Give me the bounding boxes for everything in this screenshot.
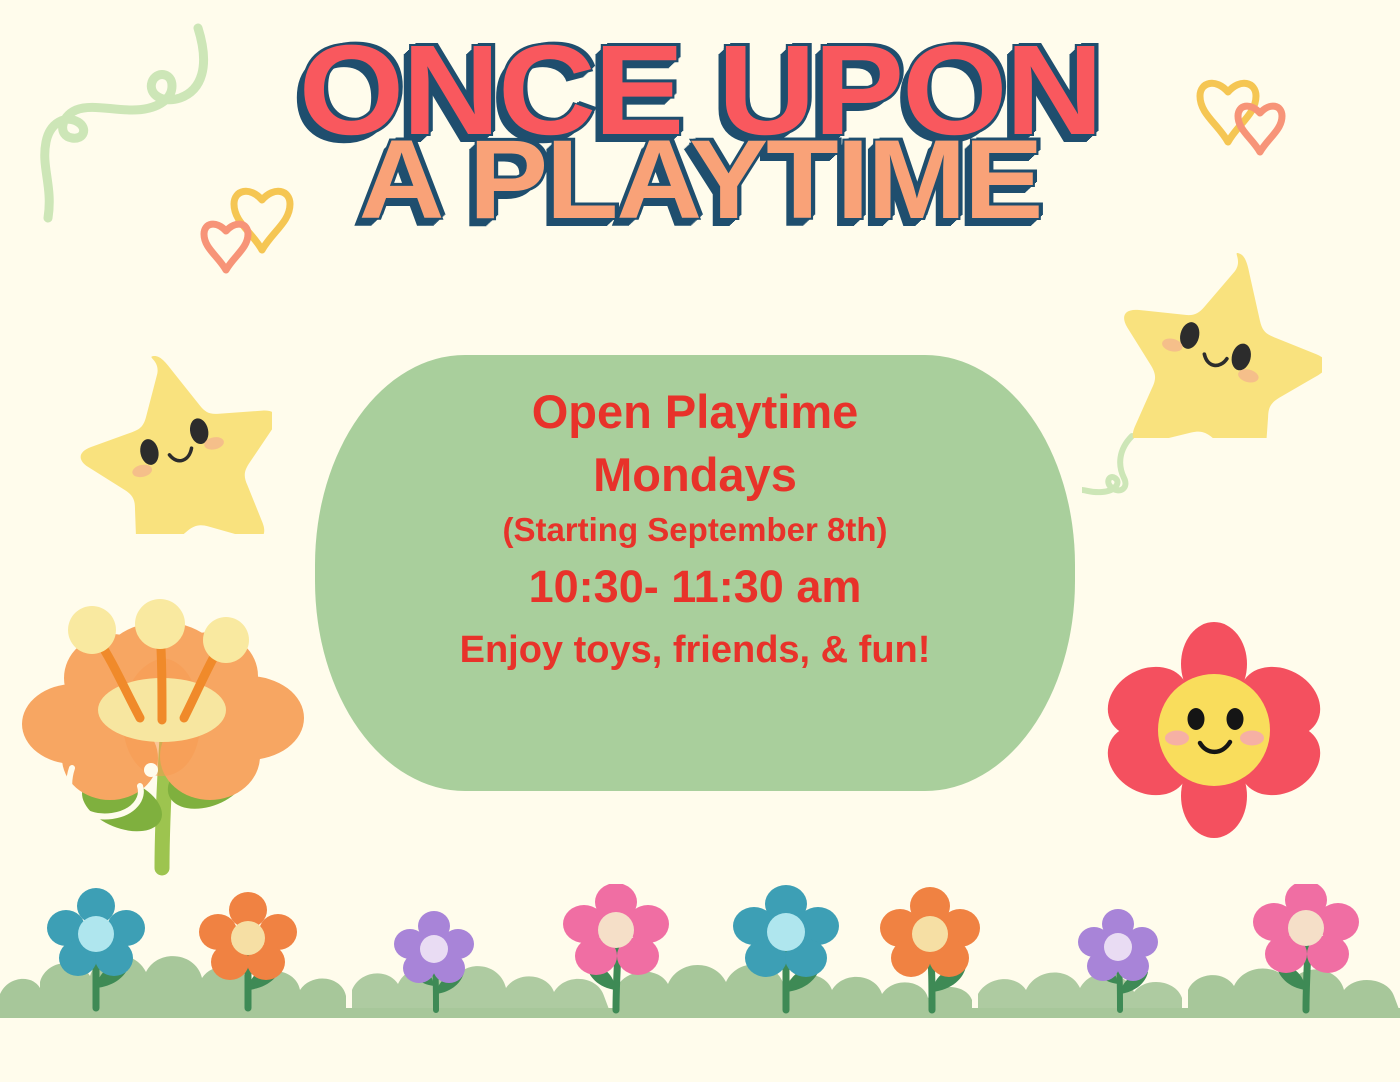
poster-title: ONCE UPON A PLAYTIME [0, 36, 1400, 228]
smiling-star-right-icon [1112, 238, 1322, 438]
info-time: 10:30- 11:30 am [315, 560, 1075, 615]
border-flower-pink-2 [1253, 884, 1359, 1010]
info-heading: Open Playtime [315, 383, 1075, 440]
border-flower-purple-1 [394, 911, 474, 1010]
border-flower-orange-2 [880, 887, 980, 1010]
smiling-star-left-icon [72, 342, 272, 534]
info-panel: Open Playtime Mondays (Starting Septembe… [315, 355, 1075, 791]
info-start-note: (Starting September 8th) [315, 510, 1075, 550]
border-flower-orange-1 [199, 892, 297, 1008]
border-flower-blue-1 [47, 888, 145, 1008]
info-panel-text: Open Playtime Mondays (Starting Septembe… [315, 355, 1075, 791]
info-tagline: Enjoy toys, friends, & fun! [315, 627, 1075, 673]
title-line-2: A PLAYTIME [0, 132, 1400, 228]
poster-canvas: ONCE UPON A PLAYTIME Open Playtime Monda… [0, 0, 1400, 1082]
vine-right-icon [1082, 428, 1192, 538]
border-flower-pink-1 [563, 884, 669, 1010]
red-smiling-flower-icon [1104, 620, 1324, 840]
garden-border-strip [0, 884, 1400, 1044]
info-day: Mondays [315, 446, 1075, 503]
border-flower-blue-2 [733, 885, 839, 1010]
orange-flower-icon [12, 548, 304, 890]
border-flower-purple-2 [1078, 909, 1158, 1010]
